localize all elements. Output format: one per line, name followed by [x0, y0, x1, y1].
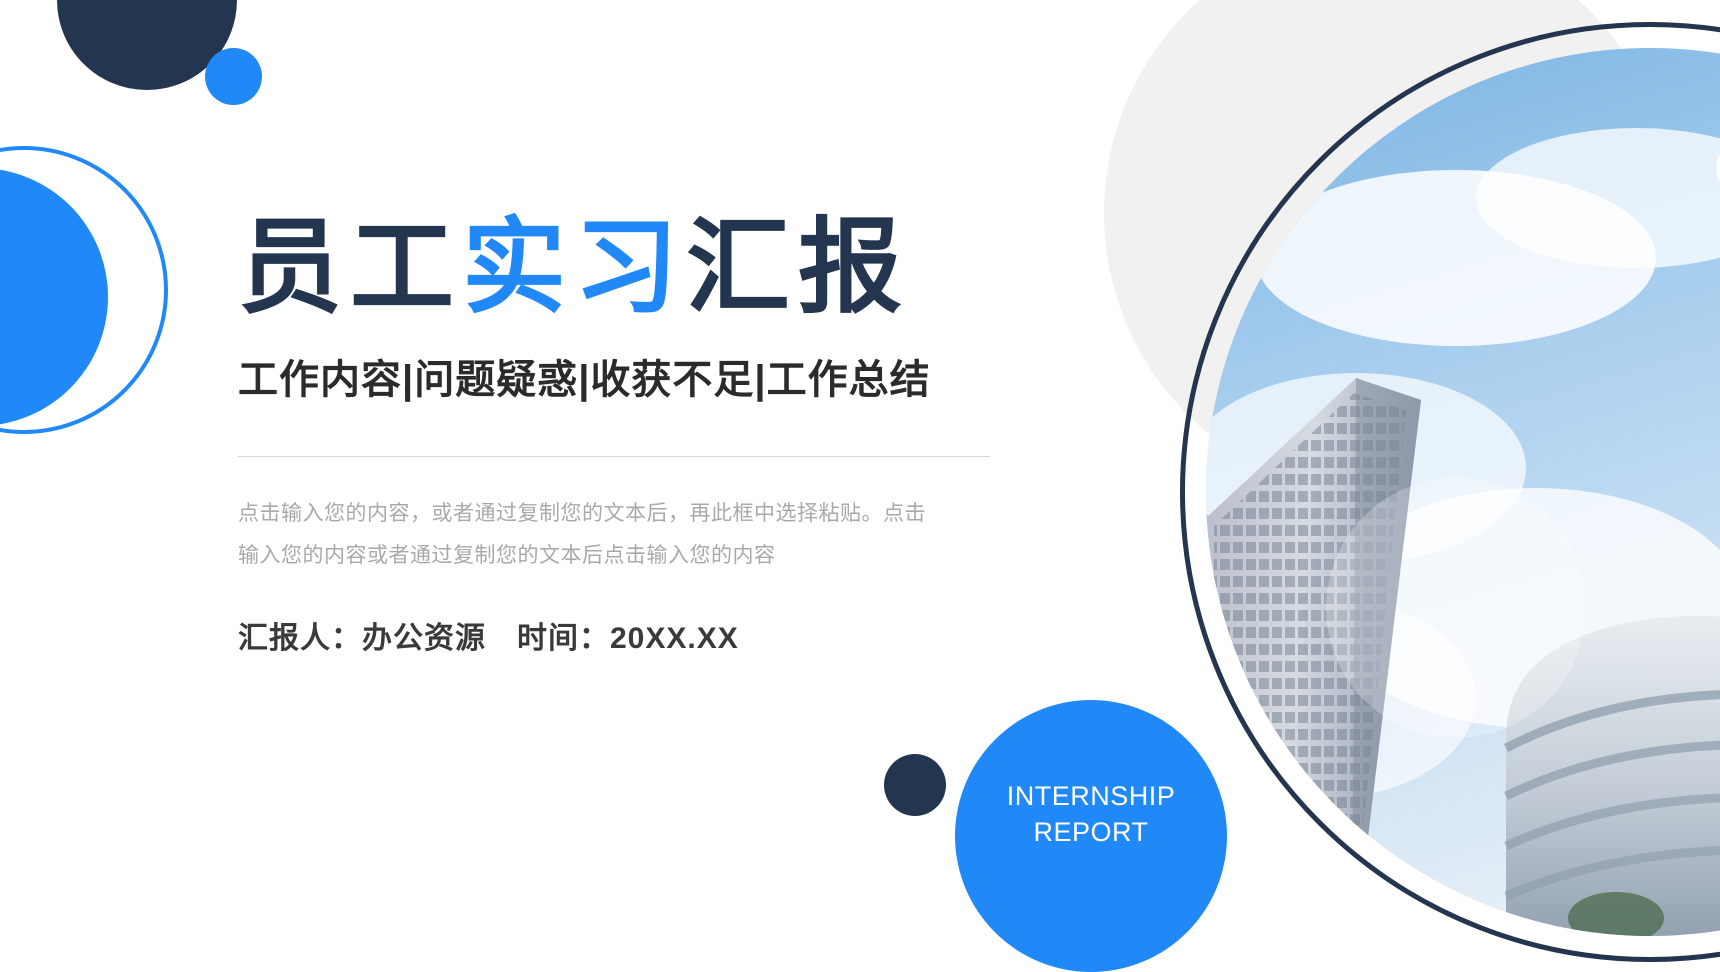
title-part-2-accent: 实习 [462, 210, 686, 326]
badge-line-2: REPORT [1033, 814, 1148, 850]
badge-line-1: INTERNSHIP [1007, 778, 1176, 814]
cityscape-photo-image [1206, 48, 1720, 936]
divider-rule [238, 456, 990, 457]
title-part-3: 汇报 [686, 210, 910, 326]
body-text: 点击输入您的内容，或者通过复制您的文本后，再此框中选择粘贴。点击 输入您的内容或… [238, 493, 1016, 577]
cityscape-photo [1206, 48, 1720, 936]
body-text-line-2: 输入您的内容或者通过复制您的文本后点击输入您的内容 [238, 535, 1016, 577]
page-title: 员工实习汇报 [238, 206, 1028, 330]
presentation-slide: 员工实习汇报 工作内容|问题疑惑|收获不足|工作总结 点击输入您的内容，或者通过… [0, 0, 1720, 972]
title-part-1: 员工 [238, 210, 462, 326]
blue-dot-decoration [205, 48, 262, 105]
slide-subtitle: 工作内容|问题疑惑|收获不足|工作总结 [238, 354, 1028, 406]
internship-report-badge: INTERNSHIP REPORT [955, 700, 1227, 972]
navy-dot-decoration [884, 754, 946, 816]
slide-content: 员工实习汇报 工作内容|问题疑惑|收获不足|工作总结 点击输入您的内容，或者通过… [238, 206, 1028, 657]
presenter-and-date: 汇报人：办公资源 时间：20XX.XX [238, 613, 1028, 657]
body-text-line-1: 点击输入您的内容，或者通过复制您的文本后，再此框中选择粘贴。点击 [238, 493, 1016, 535]
